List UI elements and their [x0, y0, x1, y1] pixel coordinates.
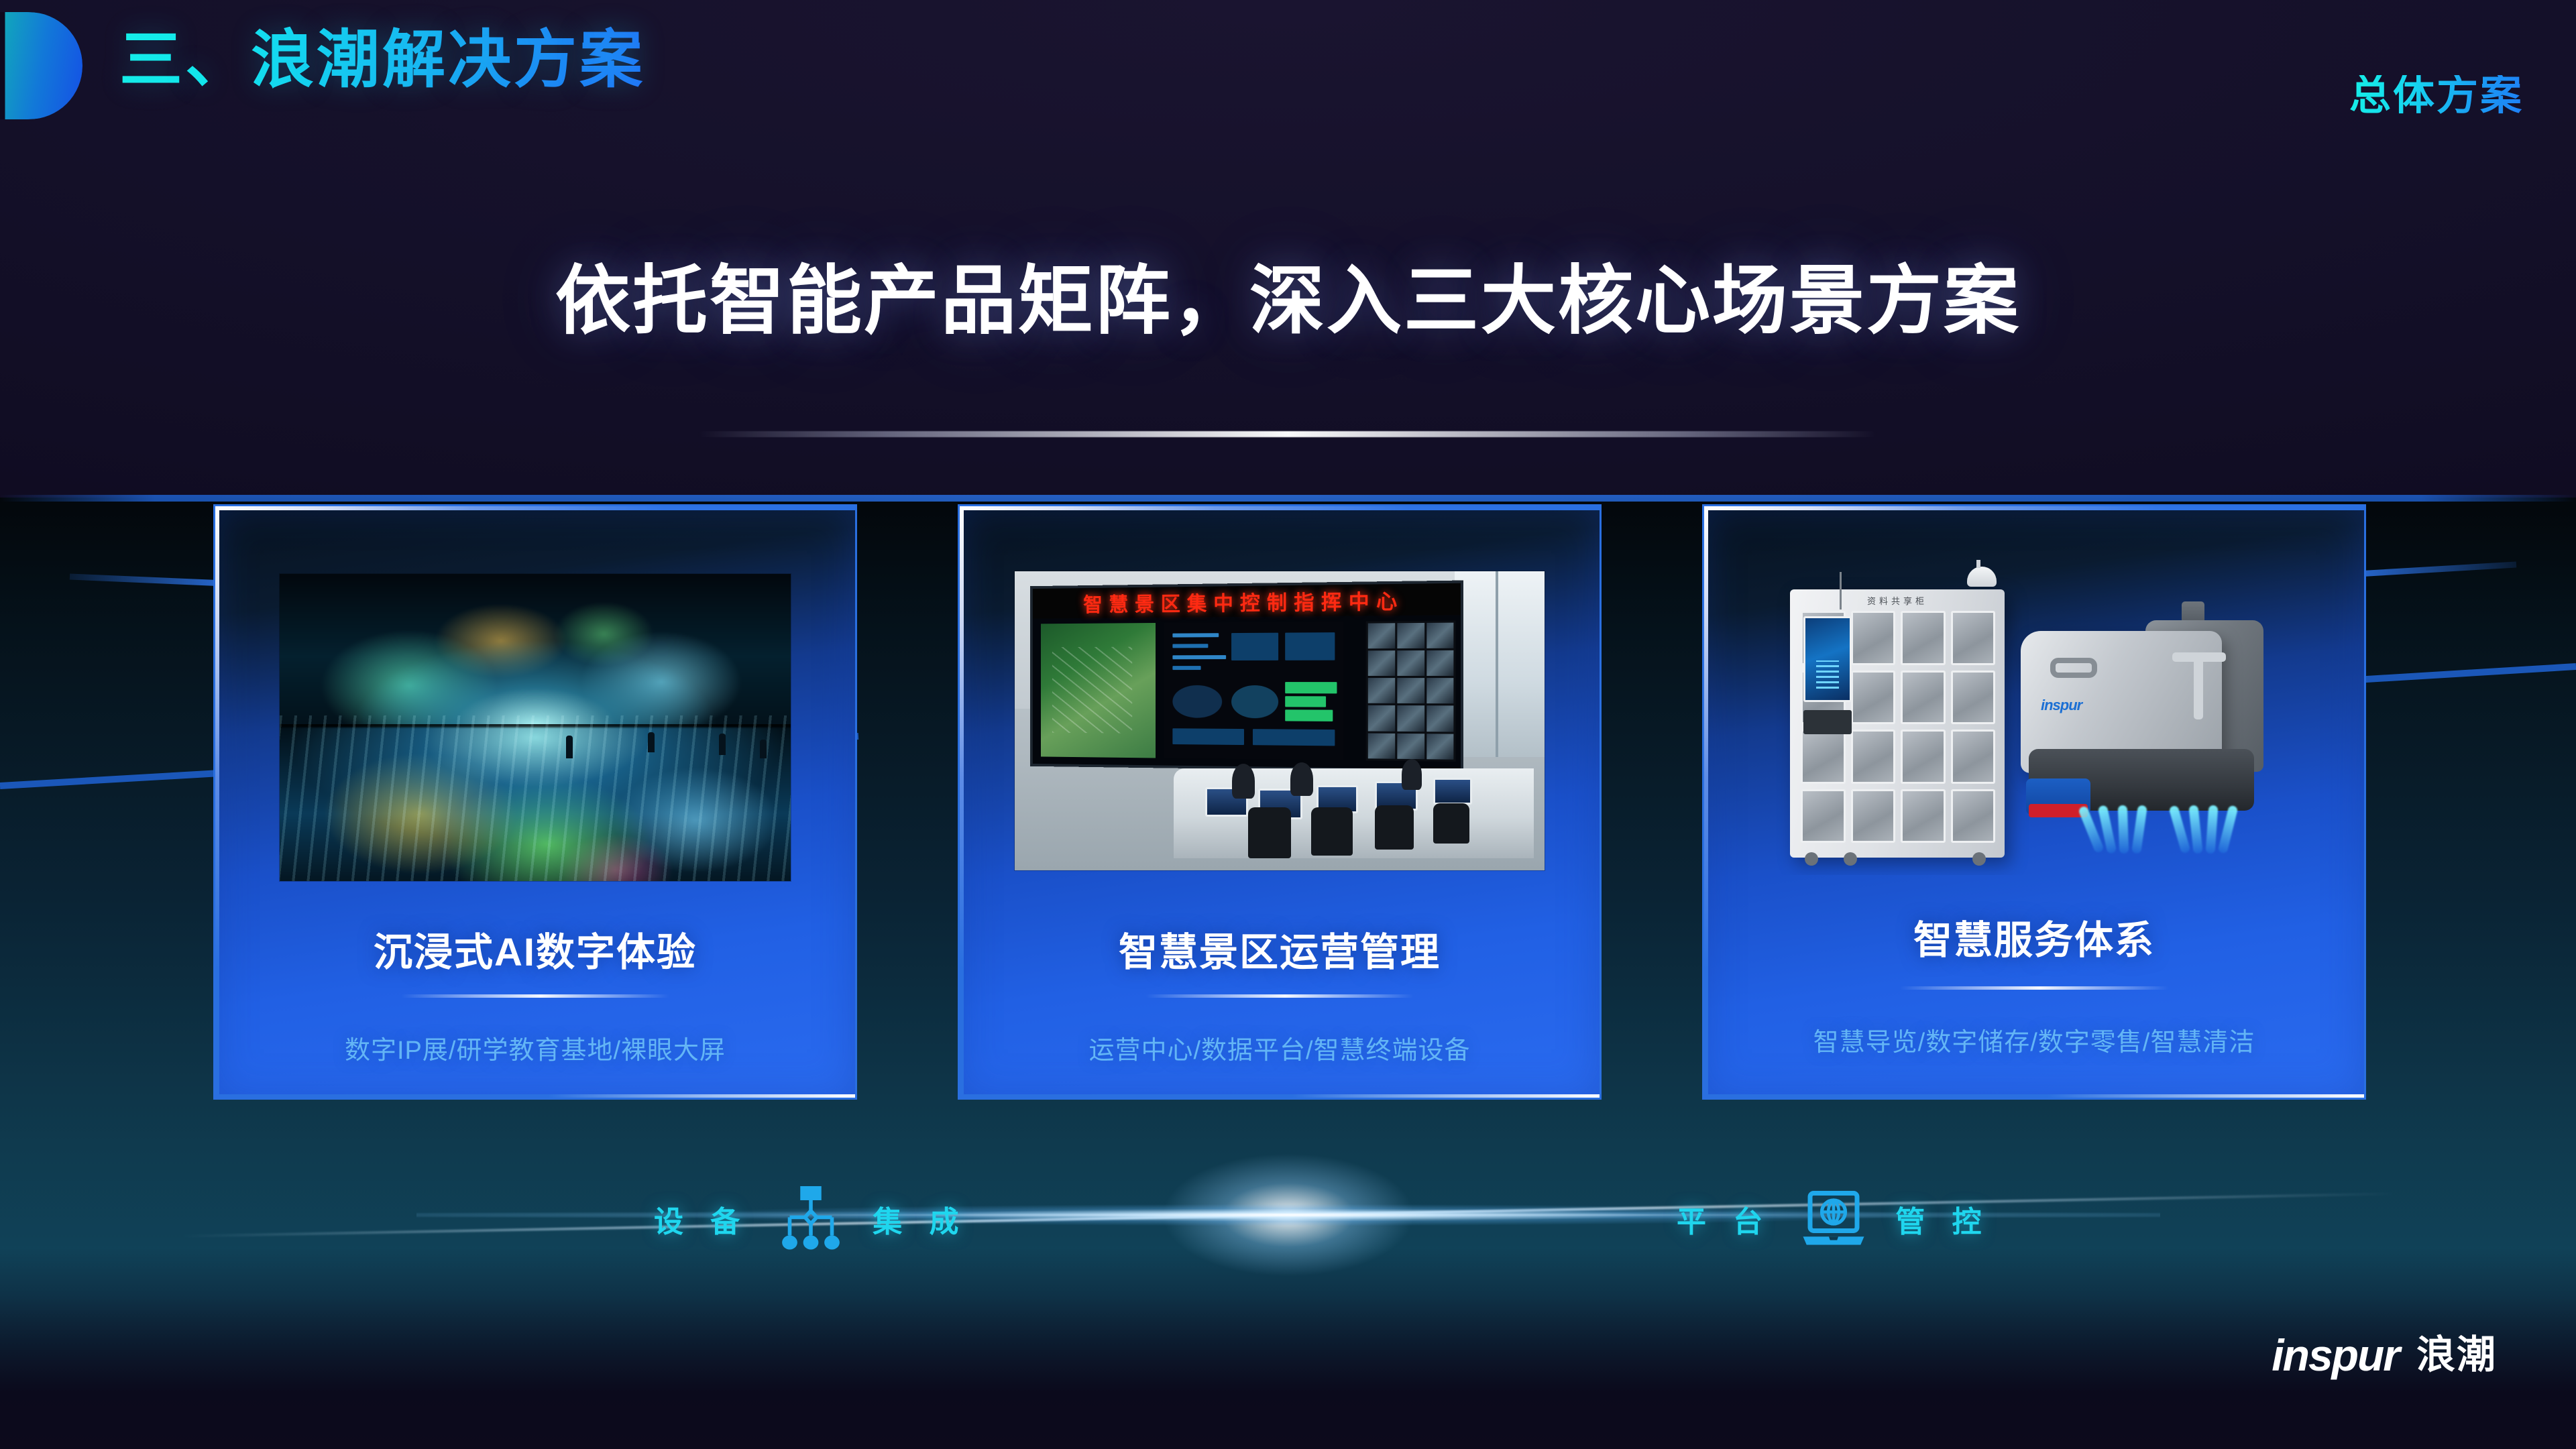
- inspur-logo: inspur 浪潮: [2272, 1333, 2497, 1377]
- strip-label-equipment: 设 备: [654, 1198, 749, 1240]
- card-divider: [1145, 994, 1414, 998]
- dome-camera-icon: [1967, 567, 1997, 587]
- card-subtitle: 数字IP展/研学教育基地/裸眼大屏: [215, 1029, 855, 1066]
- section-badge: 总体方案: [2349, 75, 2524, 117]
- laptop-globe-icon: [1796, 1181, 1871, 1257]
- logo-wordmark-cn: 浪潮: [2416, 1336, 2497, 1375]
- band-seam-line: [0, 495, 2576, 502]
- headline-divider: [697, 431, 1878, 437]
- solution-card-2[interactable]: 智慧景区集中控制指挥中心: [958, 504, 1602, 1100]
- control-room-photo: 智慧景区集中控制指挥中心: [1014, 571, 1545, 871]
- smart-locker: 资料共享柜: [1790, 589, 2005, 858]
- equipment-integration-group: 设 备 集 成: [654, 1181, 968, 1257]
- logo-wordmark-en: inspur: [2272, 1333, 2399, 1377]
- card-title: 沉浸式AI数字体验: [215, 921, 855, 977]
- strip-label-platform: 平 台: [1677, 1198, 1772, 1240]
- strip-label-control: 管 控: [1895, 1198, 1991, 1240]
- card-title: 智慧景区运营管理: [960, 921, 1600, 977]
- control-room-banner-text: 智慧景区集中控制指挥中心: [1033, 583, 1461, 619]
- main-headline: 依托智能产品矩阵，深入三大核心场景方案: [0, 240, 2576, 349]
- smart-locker-and-cleaning-robot-photo: 资料共享柜: [1766, 560, 2302, 875]
- card-divider: [401, 994, 669, 998]
- slide-root: 三、浪潮解决方案 总体方案 依托智能产品矩阵，深入三大核心场景方案 沉浸式AI数…: [0, 0, 2576, 1449]
- network-topology-icon: [773, 1181, 848, 1257]
- card-bottom-edge: [1704, 1094, 2364, 1100]
- cleaning-robot: inspur: [2014, 618, 2282, 859]
- card-bottom-edge: [960, 1094, 1600, 1100]
- card-subtitle: 运营中心/数据平台/智慧终端设备: [960, 1029, 1600, 1066]
- robot-brand-label: inspur: [2041, 697, 2203, 714]
- locker-label: 资料共享柜: [1790, 594, 2005, 607]
- card-bottom-edge: [215, 1094, 855, 1100]
- platform-control-group: 平 台 管 控: [1677, 1181, 1991, 1257]
- solution-card-3[interactable]: 资料共享柜: [1702, 504, 2366, 1100]
- card-title: 智慧服务体系: [1704, 909, 2364, 965]
- page-title: 三、浪潮解决方案: [119, 20, 645, 99]
- solution-card-1[interactable]: 沉浸式AI数字体验 数字IP展/研学教育基地/裸眼大屏: [213, 504, 857, 1100]
- card-subtitle: 智慧导览/数字储存/数字零售/智慧清洁: [1704, 1021, 2364, 1058]
- immersive-digital-art-photo: [279, 573, 791, 882]
- card-divider: [1900, 986, 2168, 990]
- strip-label-integration: 集 成: [873, 1198, 968, 1240]
